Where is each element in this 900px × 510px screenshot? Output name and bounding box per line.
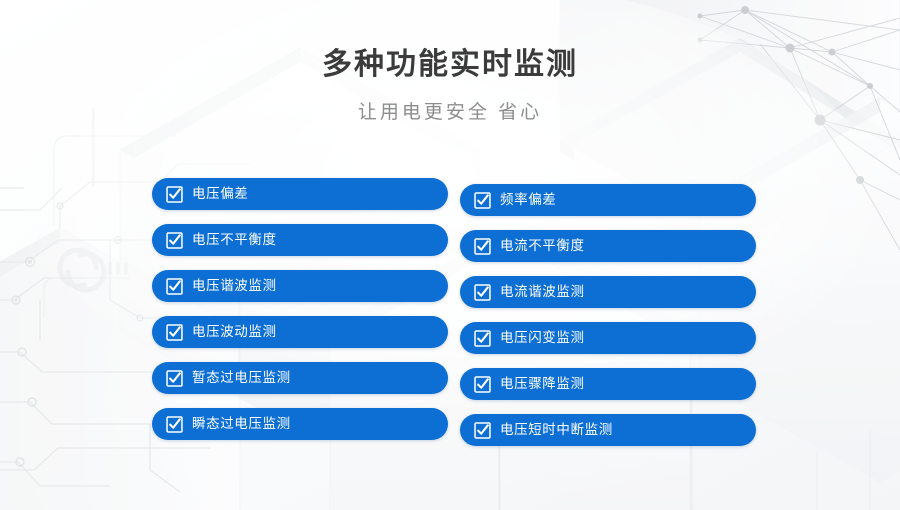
checkbox-checked-icon [474, 238, 491, 255]
checkbox-checked-icon [474, 192, 491, 209]
feature-label: 频率偏差 [500, 193, 556, 207]
page-content: 多种功能实时监测 让用电更安全 省心 电压偏差 电压不平衡度 [0, 0, 900, 510]
checkbox-checked-icon [166, 324, 183, 341]
header: 多种功能实时监测 让用电更安全 省心 [0, 0, 900, 124]
feature-pill-voltage-flicker[interactable]: 电压闪变监测 [460, 322, 756, 354]
feature-pill-voltage-interruption[interactable]: 电压短时中断监测 [460, 414, 756, 446]
checkbox-checked-icon [474, 422, 491, 439]
page-title: 多种功能实时监测 [0, 48, 900, 83]
feature-label: 电压波动监测 [192, 325, 277, 339]
feature-pill-current-unbalance[interactable]: 电流不平衡度 [460, 230, 756, 262]
feature-pill-temporary-overvoltage[interactable]: 暂态过电压监测 [152, 362, 448, 394]
feature-label: 暂态过电压监测 [192, 371, 291, 385]
checkbox-checked-icon [166, 186, 183, 203]
feature-label: 电压不平衡度 [192, 233, 277, 247]
feature-label: 电压闪变监测 [500, 331, 585, 345]
feature-label: 电流不平衡度 [500, 239, 585, 253]
feature-pill-voltage-deviation[interactable]: 电压偏差 [152, 178, 448, 210]
checkbox-checked-icon [474, 376, 491, 393]
feature-column-right: 频率偏差 电流不平衡度 电流谐波监测 [460, 184, 756, 446]
feature-pill-voltage-sag[interactable]: 电压骤降监测 [460, 368, 756, 400]
checkbox-checked-icon [166, 278, 183, 295]
checkbox-checked-icon [166, 416, 183, 433]
feature-pill-voltage-fluctuation[interactable]: 电压波动监测 [152, 316, 448, 348]
feature-pill-voltage-unbalance[interactable]: 电压不平衡度 [152, 224, 448, 256]
page-subtitle: 让用电更安全 省心 [0, 102, 900, 125]
feature-pill-frequency-deviation[interactable]: 频率偏差 [460, 184, 756, 216]
feature-pill-transient-overvoltage[interactable]: 瞬态过电压监测 [152, 408, 448, 440]
feature-label: 瞬态过电压监测 [192, 417, 291, 431]
checkbox-checked-icon [166, 370, 183, 387]
feature-label: 电压偏差 [192, 187, 248, 201]
checkbox-checked-icon [474, 330, 491, 347]
feature-label: 电压谐波监测 [192, 279, 277, 293]
feature-pill-current-harmonic[interactable]: 电流谐波监测 [460, 276, 756, 308]
feature-pill-voltage-harmonic[interactable]: 电压谐波监测 [152, 270, 448, 302]
feature-label: 电流谐波监测 [500, 285, 585, 299]
feature-label: 电压短时中断监测 [500, 423, 613, 437]
feature-column-left: 电压偏差 电压不平衡度 电压谐波监测 [152, 178, 448, 440]
checkbox-checked-icon [474, 284, 491, 301]
checkbox-checked-icon [166, 232, 183, 249]
feature-label: 电压骤降监测 [500, 377, 585, 391]
